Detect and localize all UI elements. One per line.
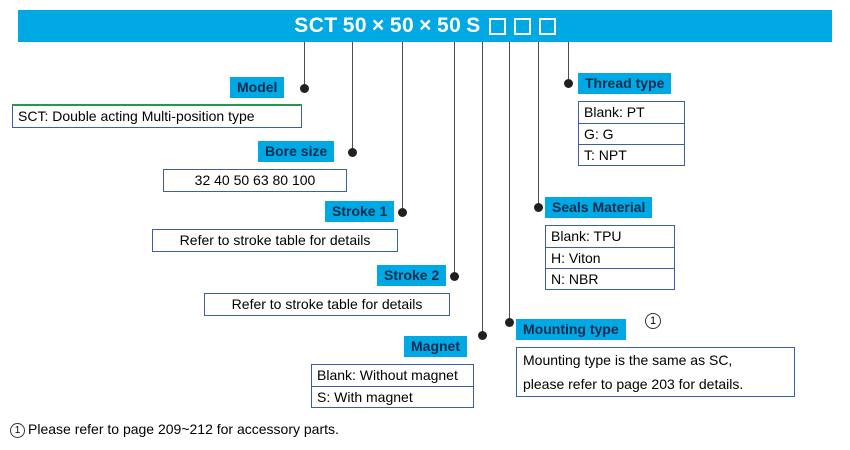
callout-label-model: Model	[230, 77, 284, 98]
thread-type-row-1: G: G	[579, 123, 684, 144]
model-code-banner: SCT 50 × 50 × 50 S	[18, 10, 832, 42]
leader-dot-thread-type	[564, 79, 573, 88]
callout-box-bore-size: 32 40 50 63 80 100	[163, 169, 347, 192]
footnote: 1Please refer to page 209~212 for access…	[10, 421, 339, 438]
callout-box-mounting-type: Mounting type is the same as SC, please …	[516, 347, 795, 397]
callout-label-magnet: Magnet	[404, 336, 467, 357]
callout-label-thread-type: Thread type	[578, 73, 671, 94]
code-empty-box-1	[489, 18, 506, 35]
leader-dot-model	[300, 84, 309, 93]
callout-box-stroke-2: Refer to stroke table for details	[204, 293, 450, 316]
callout-label-bore-size: Bore size	[258, 141, 334, 162]
leader-line-stroke-1	[402, 42, 403, 212]
mounting-type-row-1: please refer to page 203 for details.	[517, 372, 794, 396]
footnote-text: Please refer to page 209~212 for accesso…	[28, 421, 339, 437]
callout-label-stroke-2: Stroke 2	[377, 265, 446, 286]
leader-dot-stroke-2	[450, 272, 459, 281]
seals-material-row-1: H: Viton	[546, 247, 674, 268]
leader-line-magnet	[482, 42, 483, 336]
stroke-1-row-0: Refer to stroke table for details	[153, 230, 397, 251]
seals-material-row-0: Blank: TPU	[546, 226, 674, 247]
leader-dot-bore-size	[348, 148, 357, 157]
code-empty-box-3	[539, 18, 556, 35]
code-magnet: S	[466, 14, 481, 38]
thread-type-row-2: T: NPT	[579, 144, 684, 165]
leader-dot-seals-material	[534, 203, 543, 212]
leader-line-seals-material	[538, 42, 539, 206]
code-empty-box-2	[514, 18, 531, 35]
leader-line-model	[304, 42, 305, 88]
seals-material-row-2: N: NBR	[546, 268, 674, 289]
code-stroke-1: 50	[390, 14, 414, 38]
code-bore: 50	[343, 14, 367, 38]
model-code-text: SCT 50 × 50 × 50 S	[18, 10, 832, 42]
callout-label-seals-material: Seals Material	[545, 197, 652, 218]
callout-label-mounting-type: Mounting type	[516, 319, 626, 340]
callout-label-stroke-1: Stroke 1	[325, 201, 394, 222]
thread-type-row-0: Blank: PT	[579, 102, 684, 123]
callout-box-stroke-1: Refer to stroke table for details	[152, 229, 398, 252]
leader-line-bore-size	[352, 42, 353, 152]
magnet-row-0: Blank: Without magnet	[312, 365, 473, 386]
bore-size-row-0: 32 40 50 63 80 100	[164, 170, 346, 191]
callout-box-seals-material: Blank: TPU H: Viton N: NBR	[545, 225, 675, 290]
leader-dot-mounting-type	[505, 318, 514, 327]
stroke-2-row-0: Refer to stroke table for details	[205, 294, 449, 315]
model-row-0: SCT: Double acting Multi-position type	[13, 106, 301, 127]
leader-dot-magnet	[478, 331, 487, 340]
mounting-type-row-0: Mounting type is the same as SC,	[517, 348, 794, 372]
magnet-row-1: S: With magnet	[312, 386, 473, 407]
footnote-marker-number: 1	[10, 423, 25, 438]
callout-box-magnet: Blank: Without magnet S: With magnet	[311, 364, 474, 408]
callout-box-thread-type: Blank: PT G: G T: NPT	[578, 101, 685, 166]
mounting-type-marker-number: 1	[645, 313, 661, 329]
code-prefix: SCT	[294, 14, 338, 38]
code-times-1: ×	[372, 14, 385, 38]
mounting-type-footnote-marker: 1	[645, 313, 661, 329]
code-times-2: ×	[419, 14, 432, 38]
code-stroke-2: 50	[437, 14, 461, 38]
leader-line-mounting-type	[509, 42, 510, 320]
leader-line-thread-type	[568, 42, 569, 82]
leader-dot-stroke-1	[398, 208, 407, 217]
leader-line-stroke-2	[454, 42, 455, 276]
callout-box-model: SCT: Double acting Multi-position type	[12, 106, 302, 128]
model-code-diagram: SCT 50 × 50 × 50 S Model SCT: Double	[0, 0, 850, 450]
